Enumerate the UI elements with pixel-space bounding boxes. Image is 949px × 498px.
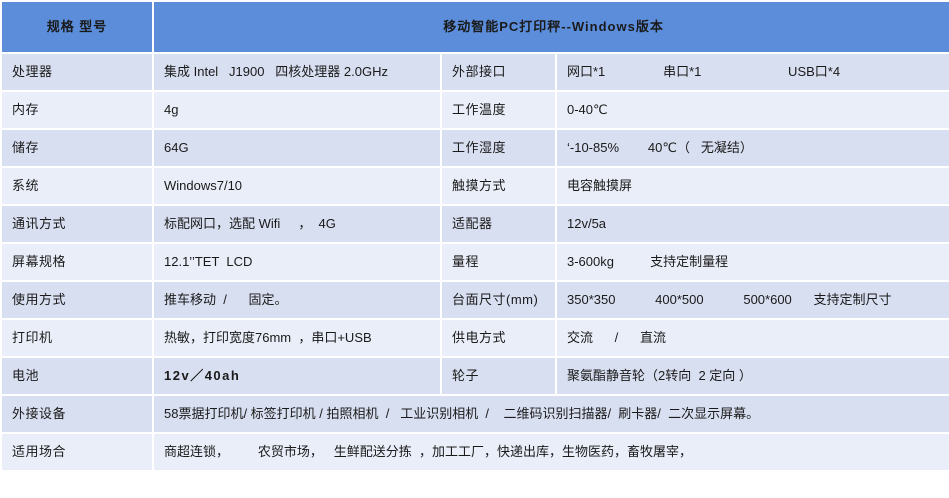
row-value-usage-mode: 推车移动 / 固定。 — [154, 282, 440, 318]
row-label-operating-temperature: 工作温度 — [442, 92, 555, 128]
row-label-power-supply: 供电方式 — [442, 320, 555, 356]
row-value-application-scenarios: 商超连锁， 农贸市场， 生鲜配送分拣 ，加工工厂，快递出库，生物医药，畜牧屠宰， — [154, 434, 949, 470]
row-label-application-scenarios: 适用场合 — [2, 434, 152, 470]
row-label-weighing-range: 量程 — [442, 244, 555, 280]
row-label-battery: 电池 — [2, 358, 152, 394]
table-row: 系统 Windows7/10 触摸方式 电容触摸屏 — [2, 168, 949, 204]
table-body: 规格 型号 移动智能PC打印秤--Windows版本 处理器 集成 Intel … — [2, 2, 949, 470]
row-value-external-devices: 58票据打印机/ 标签打印机 / 拍照相机 / 工业识别相机 / 二维码识别扫描… — [154, 396, 949, 432]
row-value-wheels: 聚氨酯静音轮（2转向 2 定向 ） — [557, 358, 949, 394]
table-row: 通讯方式 标配网口，选配 Wifi ， 4G 适配器 12v/5a — [2, 206, 949, 242]
table-row: 适用场合 商超连锁， 农贸市场， 生鲜配送分拣 ，加工工厂，快递出库，生物医药，… — [2, 434, 949, 470]
row-label-memory: 内存 — [2, 92, 152, 128]
table-header-row: 规格 型号 移动智能PC打印秤--Windows版本 — [2, 2, 949, 52]
row-label-storage: 储存 — [2, 130, 152, 166]
row-value-storage: 64G — [154, 130, 440, 166]
row-label-processor: 处理器 — [2, 54, 152, 90]
table-row: 使用方式 推车移动 / 固定。 台面尺寸(mm) 350*350 400*500… — [2, 282, 949, 318]
row-label-adapter: 适配器 — [442, 206, 555, 242]
table-row: 外接设备 58票据打印机/ 标签打印机 / 拍照相机 / 工业识别相机 / 二维… — [2, 396, 949, 432]
row-label-external-interface: 外部接口 — [442, 54, 555, 90]
row-value-processor: 集成 Intel J1900 四核处理器 2.0GHz — [154, 54, 440, 90]
row-value-screen-spec: 12.1’’TET LCD — [154, 244, 440, 280]
table-row: 打印机 热敏，打印宽度76mm ，串口+USB 供电方式 交流 / 直流 — [2, 320, 949, 356]
row-label-system: 系统 — [2, 168, 152, 204]
row-value-operating-temperature: 0-40℃ — [557, 92, 949, 128]
row-value-memory: 4g — [154, 92, 440, 128]
row-value-platform-size: 350*350 400*500 500*600 支持定制尺寸 — [557, 282, 949, 318]
row-label-external-devices: 外接设备 — [2, 396, 152, 432]
row-label-wheels: 轮子 — [442, 358, 555, 394]
table-row: 屏幕规格 12.1’’TET LCD 量程 3-600kg 支持定制量程 — [2, 244, 949, 280]
header-product-title: 移动智能PC打印秤--Windows版本 — [154, 2, 949, 52]
row-value-system: Windows7/10 — [154, 168, 440, 204]
table-row: 内存 4g 工作温度 0-40℃ — [2, 92, 949, 128]
specification-table: 规格 型号 移动智能PC打印秤--Windows版本 处理器 集成 Intel … — [0, 0, 949, 472]
row-value-operating-humidity: ‘-10-85% 40℃（ 无凝结） — [557, 130, 949, 166]
table-row: 电池 12v／40ah 轮子 聚氨酯静音轮（2转向 2 定向 ） — [2, 358, 949, 394]
row-value-external-interface: 网口*1 串口*1 USB口*4 — [557, 54, 949, 90]
header-spec-model-label: 规格 型号 — [2, 2, 152, 52]
row-value-adapter: 12v/5a — [557, 206, 949, 242]
row-value-communication: 标配网口，选配 Wifi ， 4G — [154, 206, 440, 242]
row-label-operating-humidity: 工作湿度 — [442, 130, 555, 166]
table-row: 储存 64G 工作湿度 ‘-10-85% 40℃（ 无凝结） — [2, 130, 949, 166]
row-value-printer: 热敏，打印宽度76mm ，串口+USB — [154, 320, 440, 356]
row-label-screen-spec: 屏幕规格 — [2, 244, 152, 280]
row-label-printer: 打印机 — [2, 320, 152, 356]
row-value-weighing-range: 3-600kg 支持定制量程 — [557, 244, 949, 280]
row-value-power-supply: 交流 / 直流 — [557, 320, 949, 356]
table-row: 处理器 集成 Intel J1900 四核处理器 2.0GHz 外部接口 网口*… — [2, 54, 949, 90]
row-label-touch-type: 触摸方式 — [442, 168, 555, 204]
row-label-usage-mode: 使用方式 — [2, 282, 152, 318]
row-label-platform-size: 台面尺寸(mm) — [442, 282, 555, 318]
row-label-communication: 通讯方式 — [2, 206, 152, 242]
row-value-battery: 12v／40ah — [154, 358, 440, 394]
row-value-touch-type: 电容触摸屏 — [557, 168, 949, 204]
